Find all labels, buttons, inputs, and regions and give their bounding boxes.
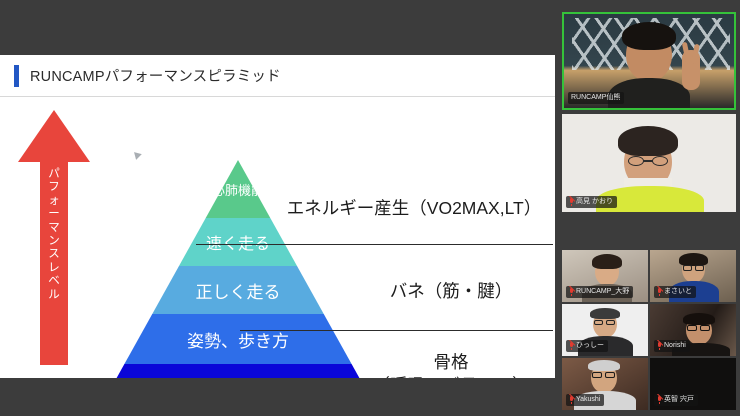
video-tile-7[interactable]: Yakushi [562,358,648,410]
participant-nametag: RUNCAMP_大野 [566,286,633,298]
participant-name: まさいと [664,287,692,297]
video-tile-3[interactable]: RUNCAMP_大野 [562,250,648,302]
pyramid-level-0-label: 心肺機能 [212,180,264,199]
annotation-divider-bottom [240,330,553,331]
pyramid-level-2-label: 正しく走る [196,278,281,303]
video-tile-6[interactable]: Norishi [650,304,736,356]
participant-name: RUNCAMP_大野 [576,287,629,297]
shared-slide[interactable]: RUNCAMPパフォーマンスピラミッド パ フ ォ ー マ ン ス レ ベ ル … [0,55,555,378]
video-tile-4[interactable]: まさいと [650,250,736,302]
mic-muted-icon [657,396,662,404]
participant-name: 英智 宍戸 [664,395,694,405]
video-tile-8[interactable]: 英智 宍戸 [650,358,736,410]
pyramid-level-2: 正しく走る [96,266,380,314]
pyramid-level-1-label: 速く走る [206,230,270,254]
mic-muted-icon [657,288,662,296]
participant-video-strip[interactable]: RUNCAMP仙熊 高見 かおり RUNCAMP_大野 [558,0,740,416]
video-tile-2[interactable]: 高見 かおり [562,114,736,212]
participant-nametag: まさいと [654,286,696,298]
slide-title-bar: RUNCAMPパフォーマンスピラミッド [0,55,555,97]
page-title: RUNCAMPパフォーマンスピラミッド [30,65,281,86]
participant-name: Norishi [664,341,686,351]
pyramid-level-4-label: 痛みがない身体 [175,374,301,378]
title-accent-bar [14,65,19,87]
participant-name: ひっしー [576,341,604,351]
arrow-head-icon [18,110,90,162]
participant-nametag: ひっしー [566,340,608,352]
participant-nametag: Yakushi [566,394,604,406]
annotation-skeleton: 骨格 （呼吸・バランス） [346,351,555,378]
arrow-label: パ フ ォ ー マ ン ス レ ベ ル [40,166,68,366]
mic-muted-icon [569,288,574,296]
participant-nametag: 英智 宍戸 [654,394,698,406]
annotation-energy: エネルギー産生（VO2MAX,LT） [276,197,552,220]
participant-nametag: 高見 かおり [566,196,617,208]
annotation-spring: バネ（筋・腱） [346,280,555,303]
annotation-divider-top [196,244,553,245]
participant-nametag: Norishi [654,340,690,352]
participant-name: Yakushi [576,395,600,405]
performance-level-arrow: パ フ ォ ー マ ン ス レ ベ ル [18,110,90,365]
participant-nametag: RUNCAMP仙熊 [568,92,624,104]
participant-name: 高見 かおり [576,197,613,207]
mic-muted-icon [657,342,662,350]
mic-muted-icon [569,198,574,206]
mic-muted-icon [569,342,574,350]
pyramid-level-1: 速く走る [96,218,380,266]
video-tile-5[interactable]: ひっしー [562,304,648,356]
performance-pyramid: 心肺機能 速く走る 正しく走る 姿勢、歩き方 痛みがない身体 [96,160,380,378]
participant-name: RUNCAMP仙熊 [571,93,620,103]
pyramid-level-3: 姿勢、歩き方 [96,314,380,364]
video-tile-active-speaker[interactable]: RUNCAMP仙熊 [562,12,736,110]
mic-muted-icon [569,396,574,404]
pyramid-level-4: 痛みがない身体 [96,364,380,378]
